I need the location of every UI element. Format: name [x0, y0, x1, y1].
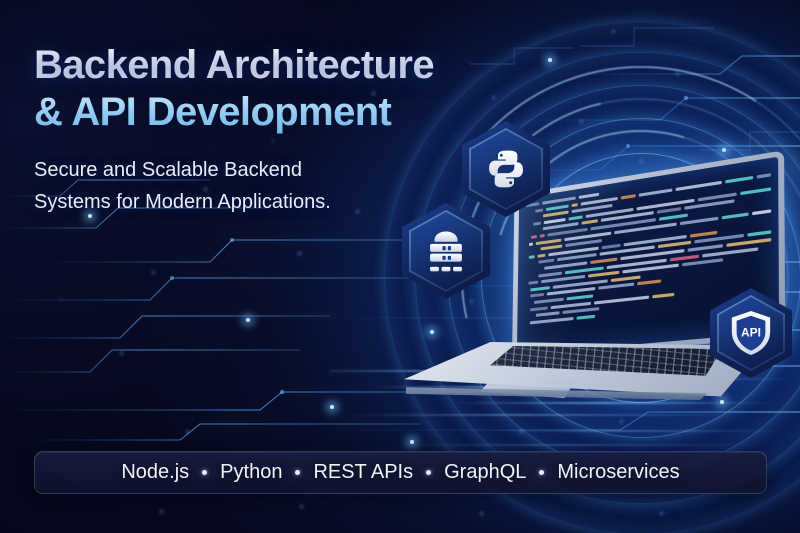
code-token: [588, 271, 619, 278]
particle-dot: [580, 120, 583, 123]
light-streak: [490, 430, 790, 432]
code-line: [526, 173, 771, 214]
code-token: [753, 209, 772, 215]
code-token: [614, 222, 676, 234]
code-line: [526, 180, 771, 220]
shield-label: API: [741, 325, 761, 339]
code-token: [682, 258, 723, 266]
particle-dot: [548, 58, 552, 62]
code-token: [541, 275, 585, 283]
code-token: [756, 173, 771, 179]
code-token: [658, 241, 691, 248]
code-token: [607, 258, 667, 269]
code-token: [538, 253, 546, 257]
code-token: [591, 218, 656, 230]
code-token: [548, 246, 598, 256]
code-token: [544, 218, 566, 224]
code-token: [529, 242, 533, 245]
light-streak: [390, 444, 770, 446]
code-line: [525, 216, 771, 253]
code-token: [543, 222, 579, 230]
copy-block: Backend Architecture & API Development S…: [34, 42, 464, 218]
code-token: [536, 238, 562, 245]
database-badge[interactable]: [402, 203, 490, 299]
code-token: [621, 249, 684, 260]
code-token: [572, 204, 613, 213]
particle-dot: [300, 505, 303, 508]
code-token: [565, 239, 602, 247]
code-token: [748, 231, 772, 237]
tech-item-python[interactable]: Python: [207, 461, 295, 484]
code-token: [533, 221, 541, 225]
subtitle-line-2: Systems for Modern Applications.: [34, 186, 464, 218]
particle-dot: [330, 405, 334, 409]
code-token: [565, 231, 611, 240]
particle-dot: [410, 440, 414, 444]
code-token: [637, 280, 661, 286]
code-line: [525, 238, 772, 272]
particle-dot: [722, 148, 726, 152]
code-token: [534, 298, 564, 304]
code-token: [572, 203, 578, 207]
page-subtitle: Secure and Scalable Backend Systems for …: [34, 154, 464, 218]
code-token: [530, 286, 550, 291]
particle-dot: [660, 512, 663, 515]
code-token: [565, 266, 604, 274]
code-token: [528, 281, 538, 285]
api-security-badge[interactable]: API: [710, 288, 792, 378]
particle-dot: [676, 72, 679, 75]
code-token: [636, 198, 695, 210]
particle-dot: [640, 160, 643, 163]
code-token: [582, 220, 598, 225]
code-token: [530, 306, 548, 311]
code-token: [581, 197, 618, 206]
code-token: [598, 283, 634, 290]
title-line-1: Backend Architecture: [34, 42, 464, 88]
code-token: [657, 207, 681, 214]
code-token: [540, 234, 545, 238]
code-token: [530, 293, 544, 298]
code-token: [541, 245, 563, 251]
database-server-icon: [423, 229, 469, 273]
code-line: [525, 223, 771, 259]
code-token: [621, 194, 636, 199]
particle-dot: [480, 512, 483, 515]
page-title: Backend Architecture & API Development: [34, 42, 464, 136]
code-token: [536, 311, 560, 316]
code-token: [690, 231, 717, 238]
code-token: [538, 271, 562, 277]
code-token: [600, 246, 655, 256]
code-token: [548, 228, 588, 237]
particle-dot: [246, 318, 250, 322]
code-line: [525, 231, 771, 266]
tech-item-node-js[interactable]: Node.js: [108, 461, 202, 484]
code-token: [670, 254, 699, 261]
code-line: [525, 209, 771, 246]
code-token: [602, 243, 621, 249]
code-token: [740, 187, 771, 195]
code-line: [525, 252, 772, 285]
tech-item-microservices[interactable]: Microservices: [544, 461, 692, 484]
tech-item-graphql[interactable]: GraphQL: [431, 461, 539, 484]
code-line: [525, 187, 771, 227]
code-token: [624, 235, 687, 247]
code-token: [585, 208, 633, 218]
code-token: [652, 292, 674, 298]
code-token: [684, 200, 734, 210]
particle-dot: [120, 352, 123, 355]
particle-dot: [60, 298, 62, 300]
subtitle-line-1: Secure and Scalable Backend: [34, 154, 464, 186]
code-token: [590, 257, 617, 264]
tech-item-rest-apis[interactable]: REST APIs: [300, 461, 426, 484]
code-token: [601, 211, 654, 222]
code-token: [568, 215, 582, 220]
code-token: [702, 247, 758, 257]
code-token: [553, 279, 608, 288]
code-token: [611, 275, 641, 282]
particle-dot: [520, 430, 523, 433]
python-logo-icon: [484, 147, 528, 191]
code-token: [694, 234, 744, 244]
code-token: [551, 301, 591, 308]
particle-dot: [620, 420, 623, 423]
code-token: [698, 192, 737, 201]
code-token: [538, 259, 554, 264]
particle-dot: [160, 510, 163, 513]
code-token: [726, 176, 753, 183]
light-streak: [340, 414, 740, 416]
code-token: [594, 295, 649, 304]
particle-dot: [186, 430, 189, 433]
particle-dot: [152, 271, 155, 274]
particle-dot: [492, 96, 495, 99]
code-token: [547, 287, 595, 296]
code-token: [567, 294, 593, 300]
code-token: [557, 253, 597, 261]
code-token: [529, 255, 535, 259]
particle-dot: [298, 252, 301, 255]
code-line: [525, 194, 771, 233]
code-token: [531, 235, 537, 239]
code-token: [638, 188, 671, 196]
code-token: [530, 317, 574, 324]
title-line-2: & API Development: [34, 88, 464, 136]
code-token: [659, 213, 688, 220]
particle-dot: [612, 30, 615, 33]
backend-architecture-banner: Backend Architecture & API Development S…: [0, 0, 800, 533]
code-line: [525, 245, 772, 279]
code-token: [727, 238, 771, 247]
code-line: [526, 165, 771, 207]
code-line: [525, 202, 771, 240]
code-token: [687, 244, 723, 252]
tech-stack-bar: Node.jsPythonREST APIsGraphQLMicroservic…: [34, 451, 767, 494]
code-token: [577, 314, 595, 319]
code-token: [722, 212, 749, 219]
code-token: [680, 216, 719, 225]
code-token: [562, 307, 599, 314]
shield-icon: API: [728, 309, 774, 357]
code-token: [675, 180, 722, 190]
code-token: [622, 264, 678, 274]
code-token: [579, 193, 599, 199]
code-token: [544, 261, 587, 269]
